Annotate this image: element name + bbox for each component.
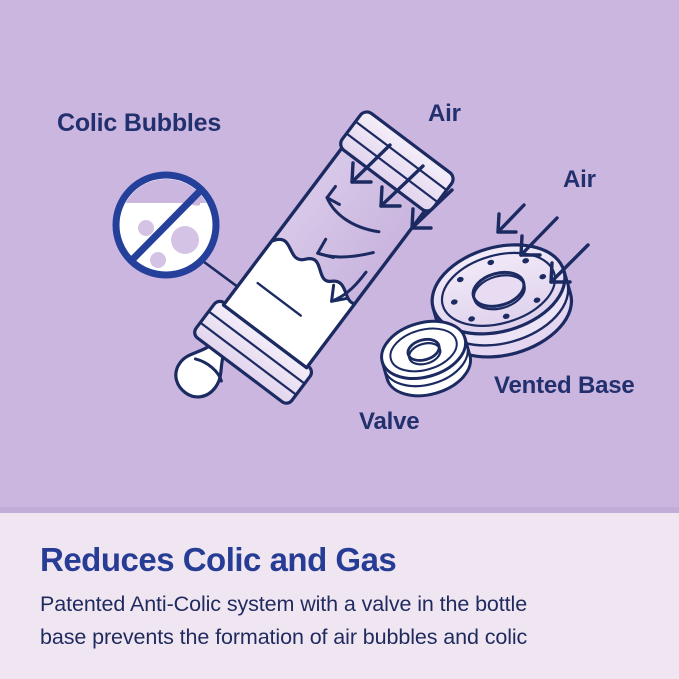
caption-heading: Reduces Colic and Gas bbox=[40, 541, 396, 579]
caption-body-line-2: base prevents the formation of air bubbl… bbox=[40, 625, 527, 650]
label-vented-base: Vented Base bbox=[494, 372, 635, 400]
infographic-page: Colic Bubbles Air Air Valve Vented Base … bbox=[0, 0, 679, 679]
label-colic-bubbles: Colic Bubbles bbox=[57, 109, 221, 138]
caption-body-line-1: Patented Anti-Colic system with a valve … bbox=[40, 592, 527, 617]
label-air-right: Air bbox=[563, 166, 596, 194]
label-air-top: Air bbox=[428, 100, 461, 128]
no-colic-bubbles-badge bbox=[116, 175, 216, 275]
label-valve: Valve bbox=[359, 408, 419, 436]
anti-colic-diagram bbox=[0, 0, 679, 513]
